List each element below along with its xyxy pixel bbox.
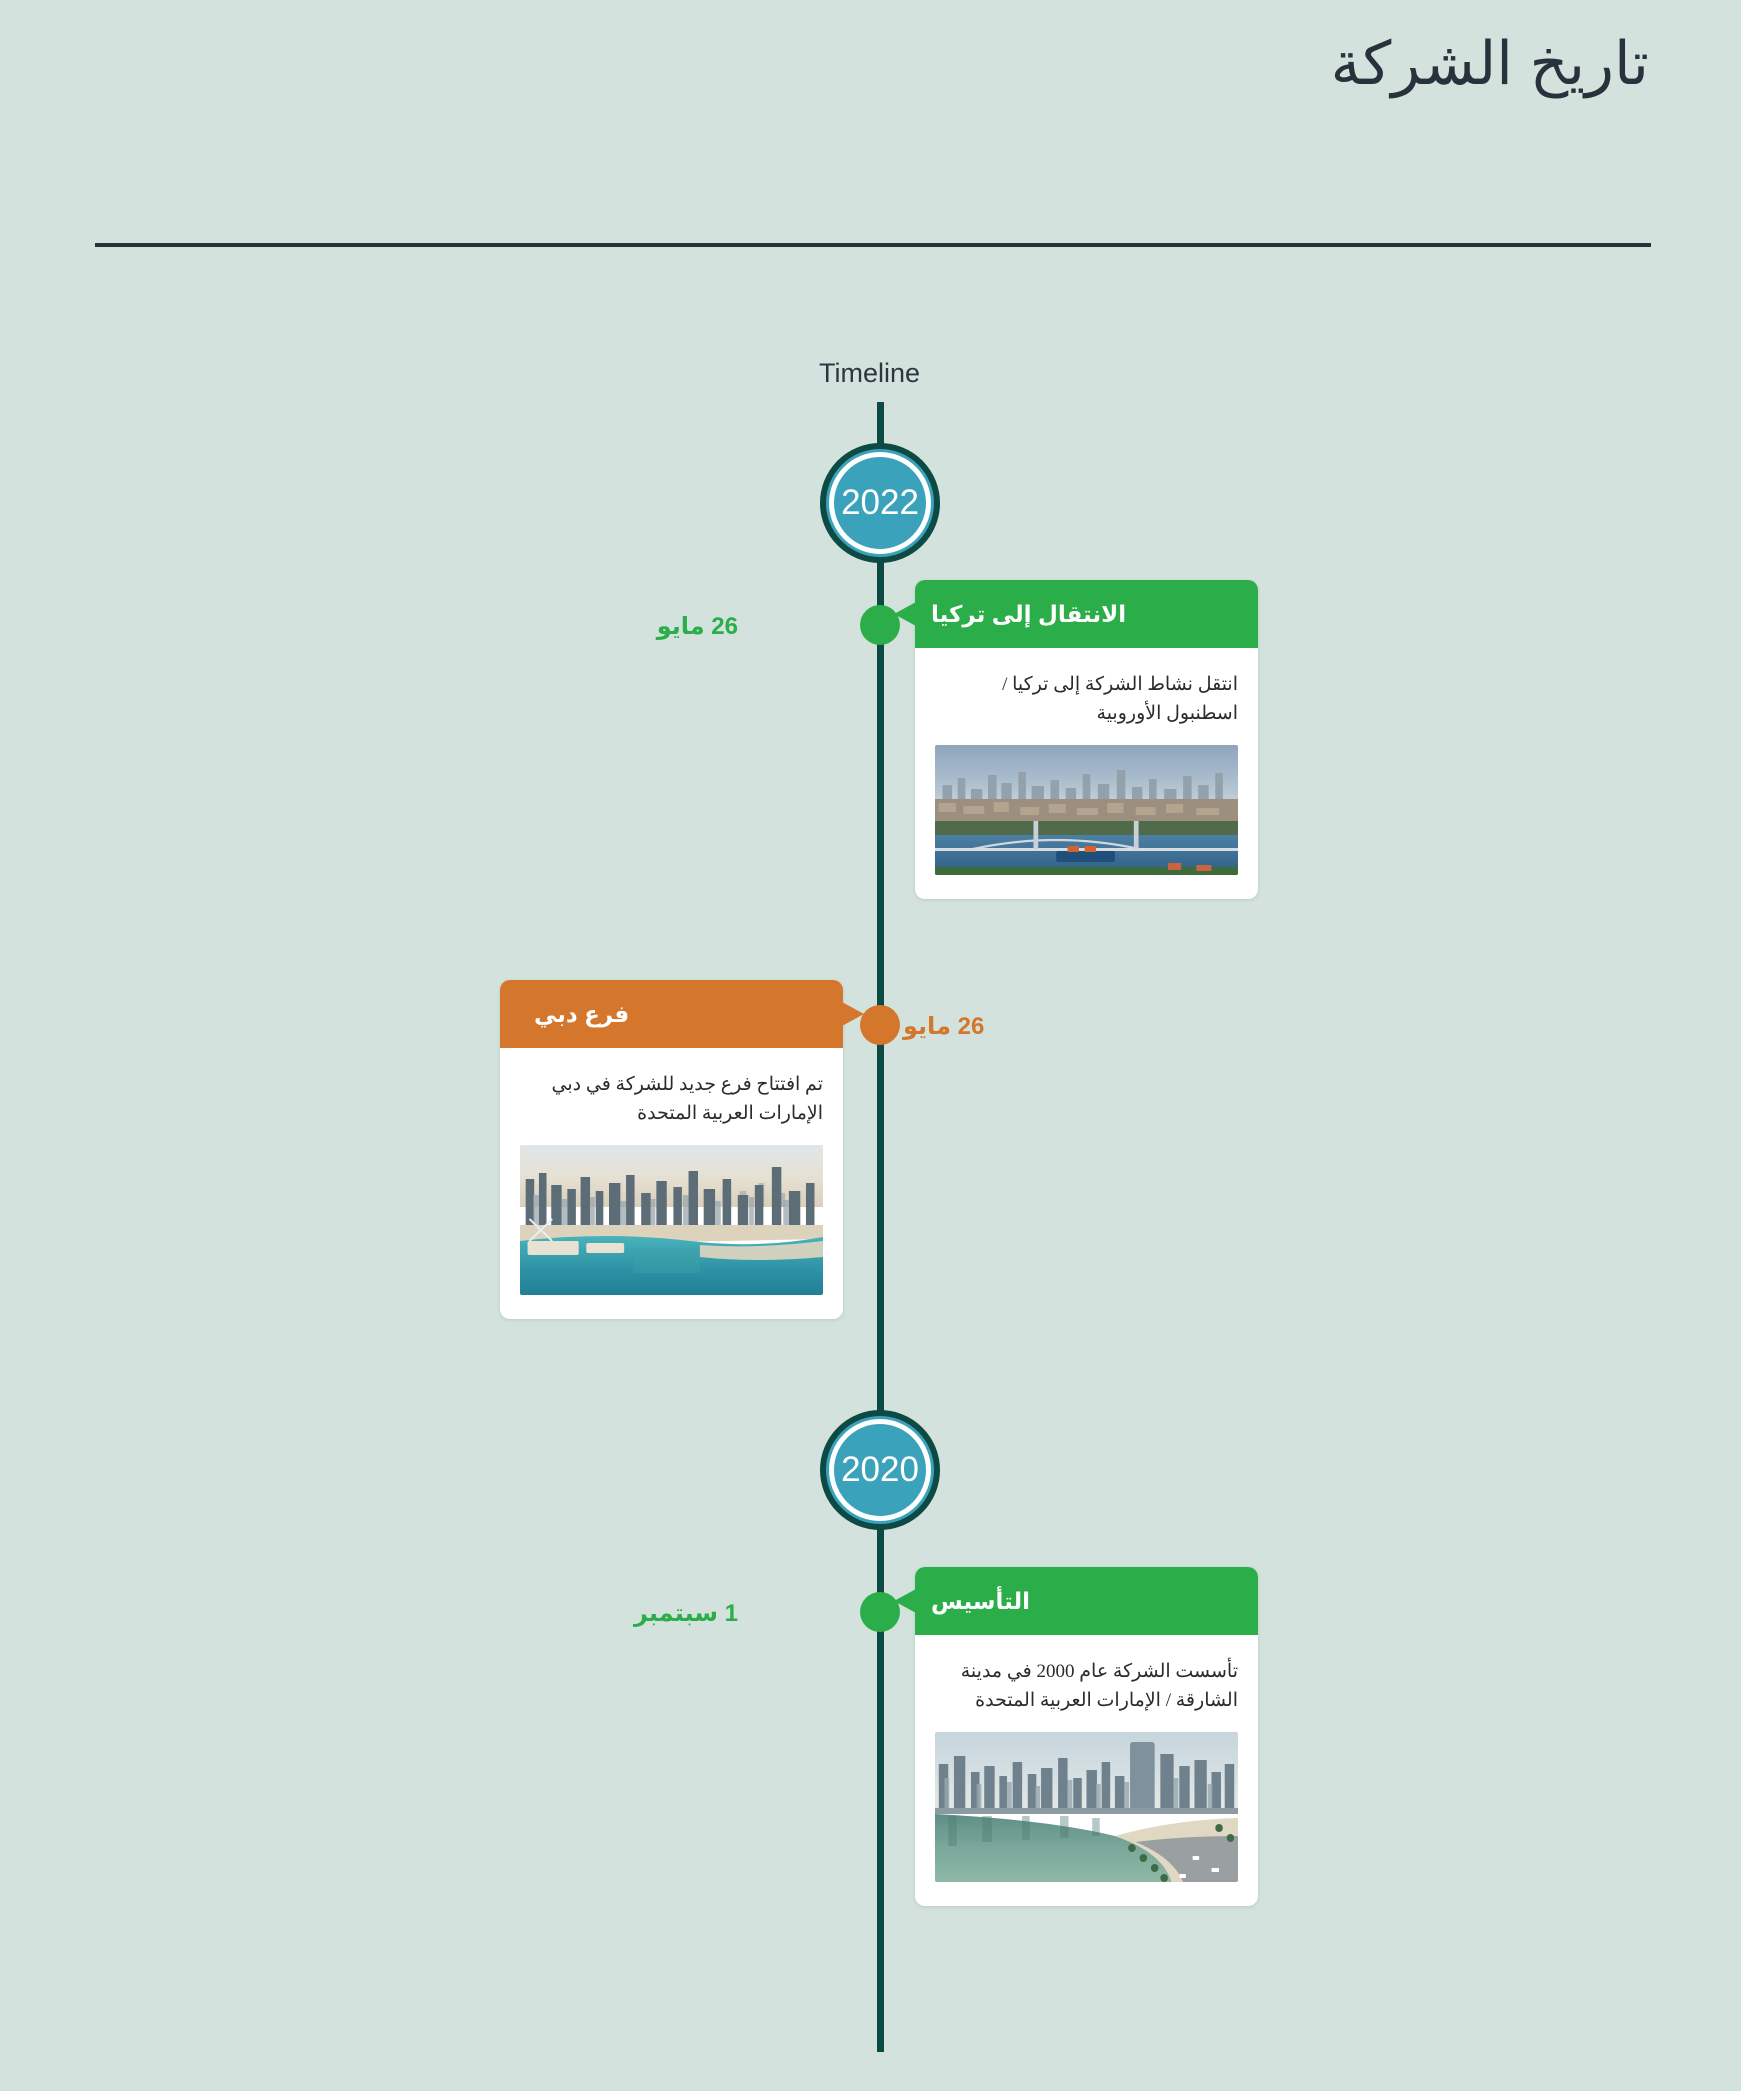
- event-description: تأسست الشركة عام 2000 في مدينة الشارقة /…: [935, 1657, 1238, 1716]
- timeline-axis: [877, 402, 884, 2052]
- year-node-2022[interactable]: 2022: [820, 443, 940, 563]
- year-node-label: 2020: [841, 1450, 919, 1490]
- event-banner: فرع دبي: [500, 980, 843, 1048]
- event-description: انتقل نشاط الشركة إلى تركيا /اسطنبول الأ…: [935, 670, 1238, 729]
- event-card-dubai-branch[interactable]: فرع دبي تم افتتاح فرع جديد للشركة في دبي…: [500, 980, 843, 1319]
- title-divider: [95, 243, 1651, 247]
- event-date-dubai-branch: 26 مايو: [903, 1012, 984, 1041]
- event-title: فرع دبي: [516, 1001, 629, 1028]
- event-card-move-to-turkey[interactable]: الانتقال إلى تركيا انتقل نشاط الشركة إلى…: [915, 580, 1258, 899]
- event-description: تم افتتاح فرع جديد للشركة في دبي الإمارا…: [520, 1070, 823, 1129]
- event-photo-istanbul: [935, 745, 1238, 875]
- event-banner: التأسيس: [915, 1567, 1258, 1635]
- year-node-2020[interactable]: 2020: [820, 1410, 940, 1530]
- event-title: الانتقال إلى تركيا: [931, 601, 1144, 628]
- event-banner: الانتقال إلى تركيا: [915, 580, 1258, 648]
- timeline-label-text: Timeline: [819, 358, 920, 388]
- event-photo-sharjah: [935, 1732, 1238, 1882]
- event-body: انتقل نشاط الشركة إلى تركيا /اسطنبول الأ…: [915, 648, 1258, 899]
- event-date-founding: 1 سبتمبر: [634, 1599, 738, 1628]
- banner-notch-arrow-icon: [894, 580, 916, 648]
- page-title: تاريخ الشركة: [1331, 28, 1649, 100]
- banner-notch-arrow-icon: [842, 980, 864, 1048]
- banner-notch-arrow-icon: [894, 1567, 916, 1635]
- event-body: تأسست الشركة عام 2000 في مدينة الشارقة /…: [915, 1635, 1258, 1906]
- event-date-move-to-turkey: 26 مايو: [657, 612, 738, 641]
- event-card-founding[interactable]: التأسيس تأسست الشركة عام 2000 في مدينة ا…: [915, 1567, 1258, 1906]
- event-photo-dubai: [520, 1145, 823, 1295]
- year-node-label: 2022: [841, 483, 919, 523]
- event-title: التأسيس: [931, 1588, 1048, 1615]
- event-body: تم افتتاح فرع جديد للشركة في دبي الإمارا…: [500, 1048, 843, 1319]
- timeline-label: Timeline: [0, 358, 1741, 389]
- event-dot-dubai-branch[interactable]: [860, 1005, 900, 1045]
